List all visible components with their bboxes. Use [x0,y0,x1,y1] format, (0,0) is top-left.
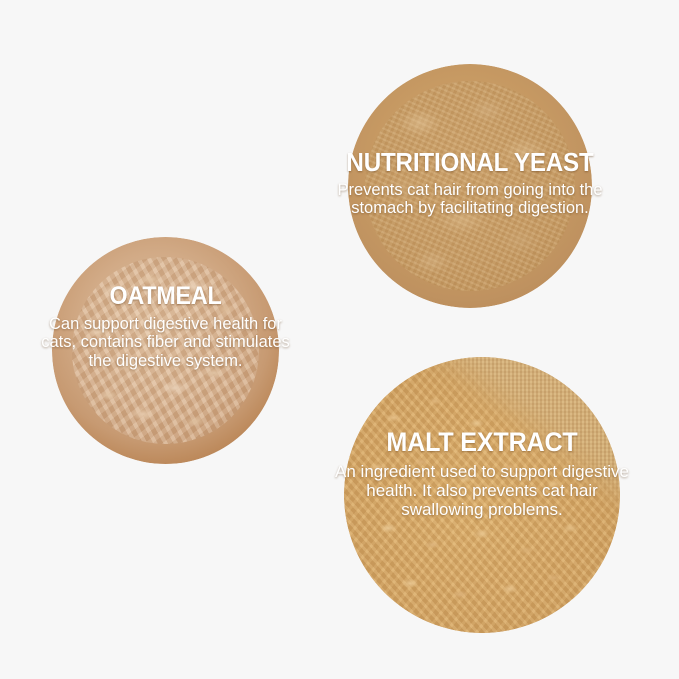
nutritional-yeast-title: NUTRITIONAL YEAST [344,149,597,176]
nutritional-yeast-copy-block: NUTRITIONAL YEAST Prevents cat hair from… [334,149,606,218]
malt-extract-description: An ingredient used to support digestive … [330,462,634,520]
malt-extract-copy-block: MALT EXTRACT An ingredient used to suppo… [330,429,634,520]
ingredient-card-oatmeal[interactable]: OATMEAL Can support digestive health for… [52,237,279,464]
infographic-canvas: OATMEAL Can support digestive health for… [0,0,679,679]
oatmeal-description: Can support digestive health for cats, c… [38,315,293,371]
ingredient-card-malt-extract[interactable]: MALT EXTRACT An ingredient used to suppo… [344,357,620,633]
ingredient-card-nutritional-yeast[interactable]: NUTRITIONAL YEAST Prevents cat hair from… [348,64,592,308]
oatmeal-title: OATMEAL [47,284,284,310]
nutritional-yeast-description: Prevents cat hair from going into the st… [334,181,606,219]
malt-extract-title: MALT EXTRACT [341,429,624,457]
oatmeal-copy-block: OATMEAL Can support digestive health for… [38,284,293,371]
